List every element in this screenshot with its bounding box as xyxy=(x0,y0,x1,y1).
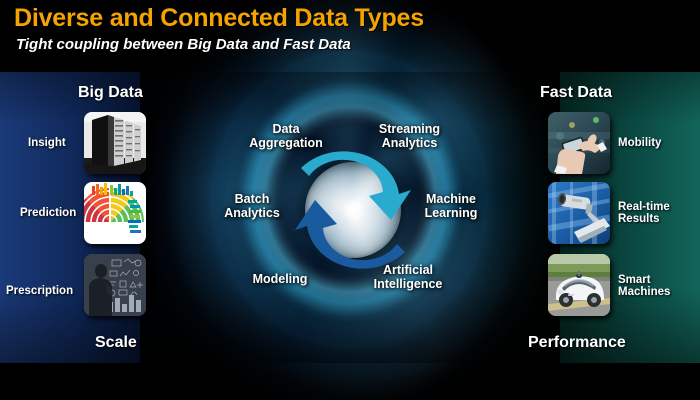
left-item-label-insight: Insight xyxy=(28,137,66,149)
center-label-line1: Artificial xyxy=(353,263,463,277)
security-camera-icon xyxy=(548,182,610,244)
left-column-footer: Scale xyxy=(95,334,137,352)
right-item-thumbnail-mobility[interactable] xyxy=(548,112,610,174)
right-item-label-line2: Results xyxy=(618,213,670,225)
left-item-label-prescription: Prescription xyxy=(6,285,73,297)
hands-holding-smartphone-icon xyxy=(548,112,610,174)
left-item-thumbnail-insight[interactable] xyxy=(84,112,146,174)
right-column-footer: Performance xyxy=(528,334,626,352)
center-label-data-aggregation: Data Aggregation xyxy=(231,122,341,150)
businessman-chalkboard-icon xyxy=(84,254,146,316)
center-label-line2: Aggregation xyxy=(231,136,341,150)
center-label-line1: Batch xyxy=(206,192,298,206)
center-label-machine-learning: Machine Learning xyxy=(404,192,498,220)
radial-analytics-chart-icon xyxy=(84,182,146,244)
page-title: Diverse and Connected Data Types xyxy=(14,4,424,33)
center-label-modeling: Modeling xyxy=(235,272,325,286)
left-column-heading: Big Data xyxy=(78,84,143,102)
center-label-line2: Intelligence xyxy=(353,277,463,291)
right-item-label-realtime-results: Real-time Results xyxy=(618,201,670,225)
cycle-arrows xyxy=(283,150,423,270)
center-label-line1: Data xyxy=(231,122,341,136)
center-label-batch-analytics: Batch Analytics xyxy=(206,192,298,220)
right-item-label-line1: Smart xyxy=(618,274,670,286)
center-label-artificial-intelligence: Artificial Intelligence xyxy=(353,263,463,291)
center-label-line1: Streaming xyxy=(352,122,467,136)
center-label-line2: Analytics xyxy=(206,206,298,220)
center-label-streaming-analytics: Streaming Analytics xyxy=(352,122,467,150)
center-label-line2: Learning xyxy=(404,206,498,220)
right-item-label-mobility: Mobility xyxy=(618,137,661,149)
right-column-heading: Fast Data xyxy=(540,84,612,102)
page-subtitle: Tight coupling between Big Data and Fast… xyxy=(16,36,351,53)
slide-canvas: Diverse and Connected Data Types Tight c… xyxy=(0,0,700,400)
center-label-line1: Modeling xyxy=(235,272,325,286)
data-center-servers-icon xyxy=(84,112,146,174)
right-item-thumbnail-realtime-results[interactable] xyxy=(548,182,610,244)
right-item-label-line2: Machines xyxy=(618,286,670,298)
self-driving-car-icon xyxy=(548,254,610,316)
center-label-line2: Analytics xyxy=(352,136,467,150)
left-item-thumbnail-prediction[interactable] xyxy=(84,182,146,244)
left-item-thumbnail-prescription[interactable] xyxy=(84,254,146,316)
left-item-label-prediction: Prediction xyxy=(20,207,76,219)
right-item-label-smart-machines: Smart Machines xyxy=(618,274,670,298)
right-item-thumbnail-smart-machines[interactable] xyxy=(548,254,610,316)
center-label-line1: Machine xyxy=(404,192,498,206)
right-item-label-line1: Real-time xyxy=(618,201,670,213)
